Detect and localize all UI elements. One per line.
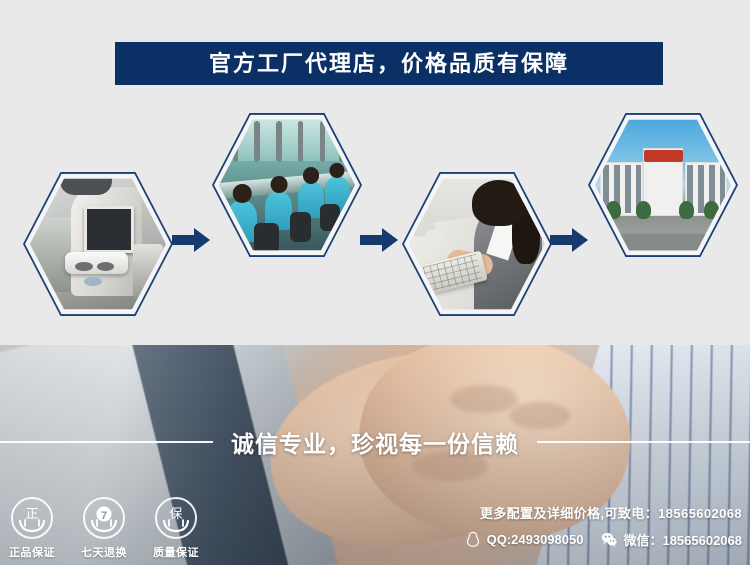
arrow-right-icon	[550, 227, 588, 253]
qq-number: QQ:2493098050	[487, 532, 584, 547]
step-1-hexagon	[23, 169, 173, 319]
svg-text:正: 正	[25, 506, 38, 521]
header-banner: 官方工厂代理店，价格品质有保障	[115, 42, 663, 85]
slogan-text: 诚信专业，珍视每一份信赖	[231, 425, 519, 459]
step-2-hexagon	[212, 110, 362, 260]
wechat-number: 微信：18565602068	[623, 530, 742, 549]
hands-holding-seven-icon: 7	[83, 497, 125, 539]
guarantee-label: 质量保证	[152, 544, 200, 560]
arrow-right-icon	[172, 227, 210, 253]
footer-white-strip	[0, 565, 750, 576]
top-section: 官方工厂代理店，价格品质有保障	[0, 0, 750, 345]
contact-block: 更多配置及详细价格,可致电：18565602068 QQ:2493098050	[465, 503, 742, 549]
guarantee-badge-seven-day-return: 7 七天退换	[80, 497, 128, 560]
slogan-rule-right	[537, 441, 750, 443]
wechat-icon	[601, 531, 617, 548]
guarantee-label: 正品保证	[8, 544, 56, 560]
qq-penguin-icon	[465, 531, 481, 548]
svg-text:保: 保	[169, 506, 182, 521]
guarantee-label: 七天退换	[80, 544, 128, 560]
contact-phone-line: 更多配置及详细价格,可致电：18565602068	[465, 503, 742, 522]
process-steps	[0, 95, 750, 325]
header-banner-text: 官方工厂代理店，价格品质有保障	[209, 53, 569, 75]
guarantee-badge-authentic: 正 正品保证	[8, 497, 56, 560]
slogan-row: 诚信专业，珍视每一份信赖	[0, 425, 750, 459]
slogan-rule-left	[0, 441, 213, 443]
hands-holding-zheng-icon: 正	[11, 497, 53, 539]
step-4-hexagon	[588, 110, 738, 260]
svg-text:7: 7	[101, 510, 107, 522]
guarantee-badges: 正 正品保证 7 七天退换	[8, 497, 200, 560]
hands-holding-bao-icon: 保	[155, 497, 197, 539]
hero-handshake-section: 诚信专业，珍视每一份信赖 正 正品保证 7	[0, 345, 750, 565]
guarantee-badge-quality: 保 质量保证	[152, 497, 200, 560]
arrow-right-icon	[360, 227, 398, 253]
promo-page: 官方工厂代理店，价格品质有保障	[0, 0, 750, 576]
step-3-hexagon	[402, 169, 552, 319]
contact-im-line: QQ:2493098050 微信：18565602068	[465, 530, 742, 549]
